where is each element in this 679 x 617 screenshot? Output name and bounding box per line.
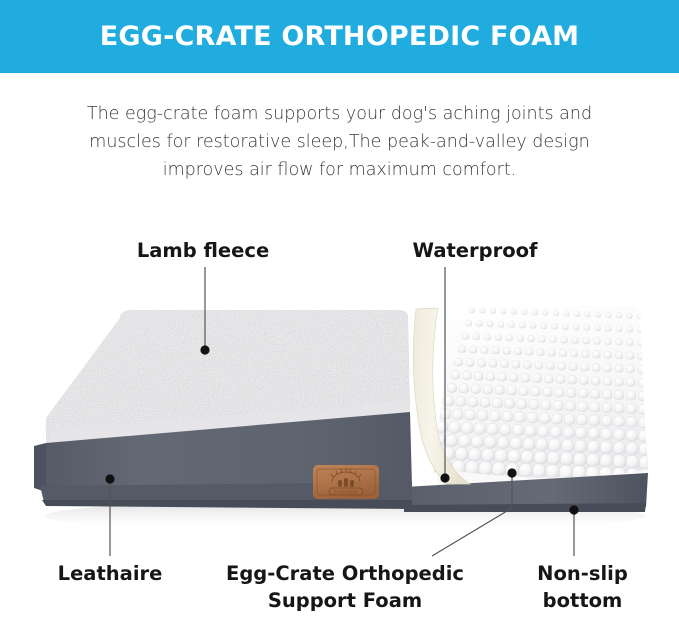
leader-dots: [105, 345, 578, 514]
foam-bump: [575, 440, 587, 452]
foam-bump: [626, 403, 636, 413]
egg-crate-foam-section: [425, 306, 652, 500]
foam-bump: [495, 449, 508, 462]
foam-bump: [541, 400, 551, 410]
foam-bump: [455, 447, 468, 460]
foam-bump: [539, 413, 550, 424]
foam-bump: [626, 468, 639, 482]
foam-bump: [615, 351, 622, 359]
foam-bump: [490, 410, 501, 421]
foam-bump: [577, 414, 588, 425]
foam-bump: [476, 320, 482, 326]
foam-bump: [602, 402, 612, 412]
foam-bump: [462, 422, 473, 434]
foam-bump: [569, 362, 577, 370]
foam-bump: [469, 307, 474, 313]
foam-bump: [601, 428, 612, 440]
foam-bump: [529, 399, 539, 409]
foam-bump: [626, 429, 637, 441]
foam-bump: [425, 459, 438, 473]
foam-bump: [452, 460, 465, 474]
leathaire-side-panel: [34, 412, 412, 492]
foam-bump: [548, 349, 555, 357]
foam-bump: [564, 414, 575, 425]
foam-bump: [534, 451, 547, 464]
foam-bump: [492, 462, 505, 476]
subtitle-description: The egg-crate foam supports your dog's a…: [50, 100, 629, 184]
lamb-fleece-top: [46, 310, 410, 456]
foam-bump: [517, 399, 527, 409]
foam-bump: [546, 464, 559, 478]
foam-bump: [582, 350, 589, 358]
foam-bump: [468, 448, 481, 461]
foam-bump: [586, 466, 599, 480]
foam-bump: [509, 322, 515, 328]
foam-bump: [479, 461, 492, 475]
foam-bump: [533, 374, 542, 383]
foam-bump: [639, 456, 652, 469]
foam-bump: [584, 324, 590, 330]
foam-bump: [588, 428, 599, 440]
foam-bump: [638, 378, 647, 387]
foam-bump: [500, 424, 511, 436]
foam-bump: [638, 391, 647, 401]
foam-bump: [447, 383, 456, 393]
foam-bump: [526, 348, 533, 356]
foam-bump: [474, 371, 483, 380]
foam-bump: [600, 441, 612, 453]
foam-bump: [573, 324, 579, 330]
foam-bump: [594, 338, 601, 345]
foam-bump: [492, 398, 502, 408]
foam-bump: [489, 359, 497, 367]
fleece-shag-overlay: [48, 402, 409, 450]
foam-bump: [471, 435, 483, 447]
foam-bump: [510, 373, 519, 382]
foam-bump: [483, 385, 492, 395]
foam-bump: [462, 333, 469, 340]
foam-bump: [599, 467, 612, 481]
foam-bump: [576, 427, 587, 439]
foam-bump: [591, 376, 600, 385]
foam-bump: [626, 391, 635, 401]
foam-bump: [613, 467, 626, 481]
foam-bump: [614, 403, 624, 413]
fleece-shag-edge: [46, 396, 410, 456]
foam-bump: [498, 321, 504, 327]
foam-bump: [626, 378, 635, 387]
leathaire-left-face: [34, 443, 46, 492]
foam-bump: [595, 325, 601, 331]
foam-bump: [547, 452, 560, 465]
foam-bump: [613, 455, 626, 468]
foam-bump: [501, 309, 506, 315]
foam-bump: [559, 349, 566, 357]
foam-bump: [589, 415, 600, 426]
foam-bump: [562, 324, 568, 330]
foam-bump: [466, 461, 479, 475]
foam-bump: [537, 348, 544, 356]
foam-bump: [550, 336, 557, 343]
foam-bump: [506, 334, 513, 341]
foam-bump: [503, 347, 510, 355]
foam-bump: [578, 401, 588, 411]
foam-bump: [463, 371, 472, 380]
leader-dot-lamb-fleece: [200, 345, 209, 354]
foam-bump: [498, 372, 507, 381]
brand-tag-arch-icon: [338, 478, 354, 487]
foam-bump: [466, 320, 472, 326]
foam-bump: [514, 347, 521, 355]
foam-bump: [515, 412, 526, 423]
foam-bump: [627, 339, 634, 346]
foam-bump: [601, 415, 612, 426]
foam-bump: [615, 364, 623, 372]
foam-bump: [492, 347, 499, 355]
leader-line-egg-crate-foam: [432, 477, 512, 556]
foam-bump: [638, 339, 645, 346]
foam-bump: [521, 450, 534, 463]
foam-bump: [574, 311, 579, 317]
foam-bump: [527, 412, 538, 423]
foam-bump: [562, 439, 574, 451]
foam-bump: [458, 345, 465, 353]
foam-bump: [487, 423, 498, 435]
leader-dot-leathaire: [105, 474, 114, 483]
foam-bump: [592, 363, 600, 371]
leathaire-front-face: [46, 412, 412, 492]
foam-bump: [572, 337, 579, 344]
callout-leathaire: Leathaire: [20, 560, 200, 587]
foam-bump: [452, 409, 463, 420]
foam-bump: [522, 309, 527, 315]
foam-front-lip: [437, 468, 648, 500]
foam-bump: [591, 389, 600, 399]
foam-bump: [555, 388, 564, 398]
foam-bump: [429, 446, 442, 459]
foam-bump: [627, 365, 635, 373]
non-slip-base-left-bottom: [42, 500, 412, 509]
foam-bump: [486, 372, 495, 381]
foam-bump: [505, 398, 515, 408]
foam-bump: [433, 433, 445, 445]
foam-bump: [616, 326, 622, 332]
foam-bump: [639, 469, 652, 483]
foam-bump: [487, 321, 493, 327]
foam-bump: [561, 336, 568, 343]
foam-bump-field: [425, 307, 652, 482]
foam-bump: [481, 346, 488, 354]
waterproof-liner: [413, 308, 470, 484]
leader-dot-non-slip-bottom: [569, 505, 578, 514]
foam-bump: [506, 462, 519, 476]
foam-bump: [446, 434, 458, 446]
foam-bump: [501, 360, 509, 368]
foam-bump: [525, 425, 536, 437]
foam-bump: [637, 326, 643, 332]
foam-bump: [614, 390, 623, 400]
foam-bump: [556, 375, 565, 384]
foam-bump: [539, 336, 546, 343]
callout-non-slip-bottom: Non-slip bottom: [500, 560, 665, 614]
foam-bump: [541, 323, 547, 329]
foam-bump: [564, 311, 569, 317]
foam-bump: [528, 335, 535, 342]
foam-bump: [604, 351, 611, 359]
foam-bump: [459, 435, 471, 447]
foam-bump: [444, 396, 454, 406]
foam-bump: [531, 387, 540, 397]
foam-bump: [536, 438, 548, 450]
foam-bump: [600, 454, 613, 467]
non-slip-base-right: [404, 473, 648, 509]
foam-bump: [638, 365, 646, 373]
foam-bump: [565, 401, 575, 411]
foam-bump: [587, 453, 600, 466]
foam-bump: [510, 437, 522, 449]
foam-bump: [480, 397, 490, 407]
foam-bump: [465, 409, 476, 420]
header-banner: EGG-CRATE ORTHOPEDIC FOAM: [0, 0, 679, 73]
foam-bump: [604, 364, 612, 372]
foam-bump: [466, 358, 474, 366]
foam-bump: [605, 325, 611, 331]
foam-bump: [459, 384, 468, 394]
foam-bump: [581, 363, 589, 371]
foam-bump: [517, 335, 524, 342]
foam-bump: [523, 438, 535, 450]
foam-bump: [478, 359, 486, 367]
foam-bump: [627, 326, 633, 332]
foam-bump: [638, 352, 645, 360]
foam-bump: [626, 442, 638, 454]
foam-bump: [616, 313, 621, 319]
non-slip-base-right-bottom: [404, 503, 646, 512]
leader-dot-waterproof: [440, 473, 449, 482]
foam-bump: [455, 358, 463, 366]
foam-bump: [595, 312, 600, 318]
foam-bump: [627, 352, 634, 360]
foam-bump: [603, 377, 612, 386]
foam-bump: [639, 417, 650, 428]
foam-bump: [519, 386, 528, 396]
brand-tag-background: [313, 465, 379, 499]
foam-bump: [473, 333, 480, 340]
brand-tag-name-plate: [329, 488, 363, 495]
foam-bump: [440, 408, 451, 419]
fleece-surface: [46, 310, 410, 448]
foam-bump: [521, 373, 530, 382]
foam-bump: [568, 375, 577, 384]
foam-bump: [490, 308, 495, 314]
foam-bump: [615, 377, 624, 386]
foam-bump: [508, 450, 521, 463]
brand-tag-sun-icon: [331, 468, 361, 482]
fleece-surface-noise: [46, 310, 410, 448]
foam-bump: [477, 410, 488, 421]
non-slip-base-left: [40, 482, 412, 506]
foam-bump: [538, 425, 549, 437]
foam-bump: [639, 430, 650, 442]
foam-bump: [442, 447, 455, 460]
foam-bump: [567, 388, 576, 398]
foam-bump: [558, 362, 566, 370]
foam-bump: [480, 308, 485, 314]
foam-bump: [532, 310, 537, 316]
leader-lines: [110, 267, 574, 556]
foam-bump: [580, 376, 589, 385]
foam-bump: [626, 416, 637, 427]
foam-bump: [449, 421, 460, 433]
foam-bump: [512, 360, 520, 368]
foam-bump: [468, 397, 478, 407]
foam-bump: [571, 350, 578, 358]
foam-bump: [614, 416, 625, 427]
foam-bump: [484, 333, 491, 340]
foam-bump: [495, 334, 502, 341]
foam-bump: [530, 322, 536, 328]
foam-bump: [605, 338, 612, 345]
leathaire-top-highlight: [46, 412, 410, 450]
foam-bump: [639, 443, 651, 455]
foam-bump: [590, 402, 600, 412]
leader-dot-egg-crate-foam: [507, 468, 516, 477]
foam-bump: [532, 464, 545, 478]
foam-bump: [519, 463, 532, 477]
foam-bump: [543, 387, 552, 397]
foam-bump: [543, 310, 548, 316]
foam-bump: [553, 400, 563, 410]
foam-bump: [579, 389, 588, 399]
foam-bump: [523, 361, 531, 369]
foam-bump: [512, 424, 523, 436]
foam-bump: [495, 385, 504, 395]
foam-bump: [439, 459, 452, 473]
foam-bump: [545, 374, 554, 383]
foam-bump: [552, 323, 558, 329]
foam-bump: [471, 384, 480, 394]
brand-tag-border: [317, 469, 375, 495]
foam-bump: [502, 411, 513, 422]
foam-bump: [593, 350, 600, 358]
foam-bump: [616, 338, 623, 345]
foam-bump: [614, 429, 625, 441]
foam-bump: [507, 386, 516, 396]
foam-bump: [484, 436, 496, 448]
foam-bump: [470, 346, 477, 354]
foam-bump: [436, 421, 447, 433]
foam-bump: [639, 404, 649, 414]
foam-bump: [546, 361, 554, 369]
foam-bump: [573, 466, 586, 480]
callout-lamb-fleece: Lamb fleece: [103, 237, 303, 264]
foam-bump: [603, 390, 612, 400]
foam-bump: [637, 313, 642, 319]
foam-slab-body: [437, 306, 648, 500]
foam-bump: [497, 436, 509, 448]
foam-bump: [587, 440, 599, 452]
foam-bump: [613, 442, 625, 454]
foam-bump: [559, 465, 572, 479]
foam-bump: [627, 313, 632, 319]
foam-bump: [553, 310, 558, 316]
foam-bump: [563, 427, 574, 439]
foam-bump: [550, 426, 561, 438]
foam-bump: [585, 312, 590, 318]
brand-tag: SUNHEIR: [313, 465, 379, 499]
callout-waterproof: Waterproof: [375, 237, 575, 264]
product-illustration: SUNHEIR: [0, 0, 679, 617]
foam-bump: [626, 455, 639, 468]
foam-bump: [451, 370, 460, 379]
foam-bump: [549, 439, 561, 451]
ground-shadow: [45, 500, 645, 532]
foam-bump: [535, 361, 543, 369]
foam-bump: [456, 396, 466, 406]
foam-bump: [519, 322, 525, 328]
foam-bump: [482, 449, 495, 462]
foam-bump: [552, 413, 563, 424]
page-title: EGG-CRATE ORTHOPEDIC FOAM: [100, 23, 579, 50]
foam-bump: [474, 423, 485, 435]
foam-bump: [574, 453, 587, 466]
callout-egg-crate-foam: Egg-Crate Orthopedic Support Foam: [200, 560, 490, 614]
foam-bump: [606, 312, 611, 318]
brand-tag-name: SUNHEIR: [334, 490, 358, 495]
foam-bump: [511, 309, 516, 315]
foam-bump: [583, 337, 590, 344]
foam-bump: [560, 452, 573, 465]
